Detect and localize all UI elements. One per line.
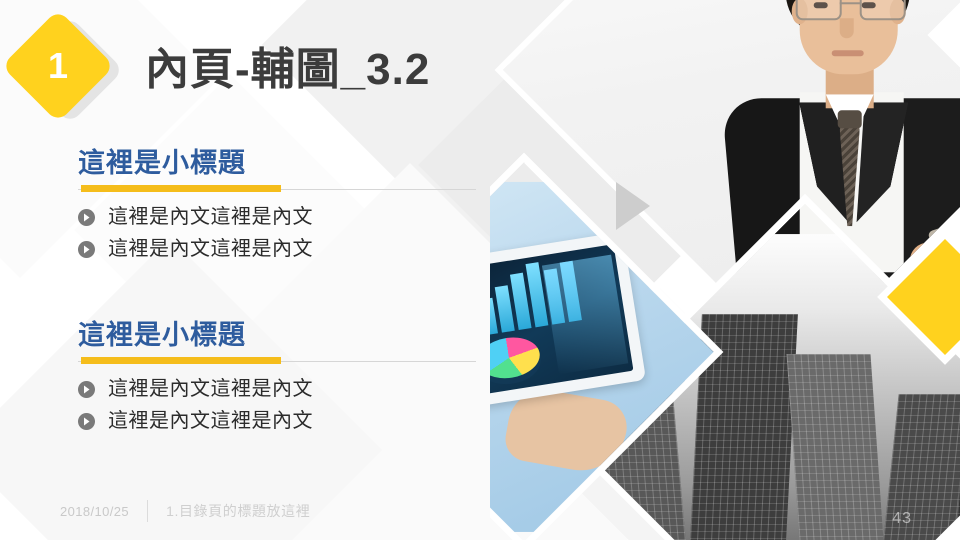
list-item: 這裡是內文這裡是內文 (78, 233, 478, 265)
footer-label: 1.目錄頁的標題放這裡 (166, 501, 310, 521)
slide-footer: 2018/10/25 1.目錄頁的標題放這裡 (60, 500, 310, 522)
play-circle-icon (78, 413, 95, 430)
bullet-list: 這裡是內文這裡是內文 這裡是內文這裡是內文 (78, 373, 478, 437)
section-heading: 這裡是小標題 (78, 320, 478, 351)
section-underline (78, 356, 476, 365)
footer-divider (147, 500, 148, 522)
content-section-1: 這裡是小標題 這裡是內文這裡是內文 這裡是內文這裡是內文 (78, 148, 478, 265)
mouth (832, 50, 864, 56)
slide-number-badge: 1 (6, 16, 126, 126)
glasses-lens-left (796, 0, 842, 20)
underline-accent-bar (81, 185, 281, 192)
list-item-label: 這裡是內文這裡是內文 (108, 207, 313, 227)
nose (840, 18, 854, 38)
section-heading: 這裡是小標題 (78, 148, 478, 179)
play-circle-icon (78, 209, 95, 226)
list-item: 這裡是內文這裡是內文 (78, 201, 478, 233)
footer-date: 2018/10/25 (60, 504, 129, 519)
slide-canvas: 1 內頁-輔圖_3.2 這裡是小標題 這裡是內文這裡是內文 這裡是內文這裡是內文 (0, 0, 960, 540)
play-circle-icon (78, 381, 95, 398)
tablet-screen (490, 244, 633, 398)
list-item: 這裡是內文這裡是內文 (78, 405, 478, 437)
page-title: 內頁-輔圖_3.2 (145, 33, 430, 97)
necktie-knot (838, 110, 862, 128)
content-section-2: 這裡是小標題 這裡是內文這裡是內文 這裡是內文這裡是內文 (78, 320, 478, 437)
gray-arrow-icon (616, 182, 650, 230)
page-number: 43 (892, 510, 912, 528)
badge-number-label: 1 (18, 26, 98, 106)
glasses-bridge (840, 2, 862, 4)
list-item-label: 這裡是內文這裡是內文 (108, 379, 313, 399)
glasses-lens-right (860, 0, 906, 20)
chart-bar (495, 285, 515, 332)
bullet-list: 這裡是內文這裡是內文 這裡是內文這裡是內文 (78, 201, 478, 265)
list-item-label: 這裡是內文這裡是內文 (108, 239, 313, 259)
underline-accent-bar (81, 357, 281, 364)
list-item-label: 這裡是內文這裡是內文 (108, 411, 313, 431)
building (787, 354, 892, 540)
screen-glow (542, 255, 628, 375)
tablet-device (490, 232, 646, 411)
pie-chart (490, 333, 543, 382)
section-underline (78, 184, 476, 193)
glasses-icon (794, 0, 906, 16)
play-circle-icon (78, 241, 95, 258)
list-item: 這裡是內文這裡是內文 (78, 373, 478, 405)
building (871, 394, 960, 540)
photo-montage (490, 0, 960, 540)
